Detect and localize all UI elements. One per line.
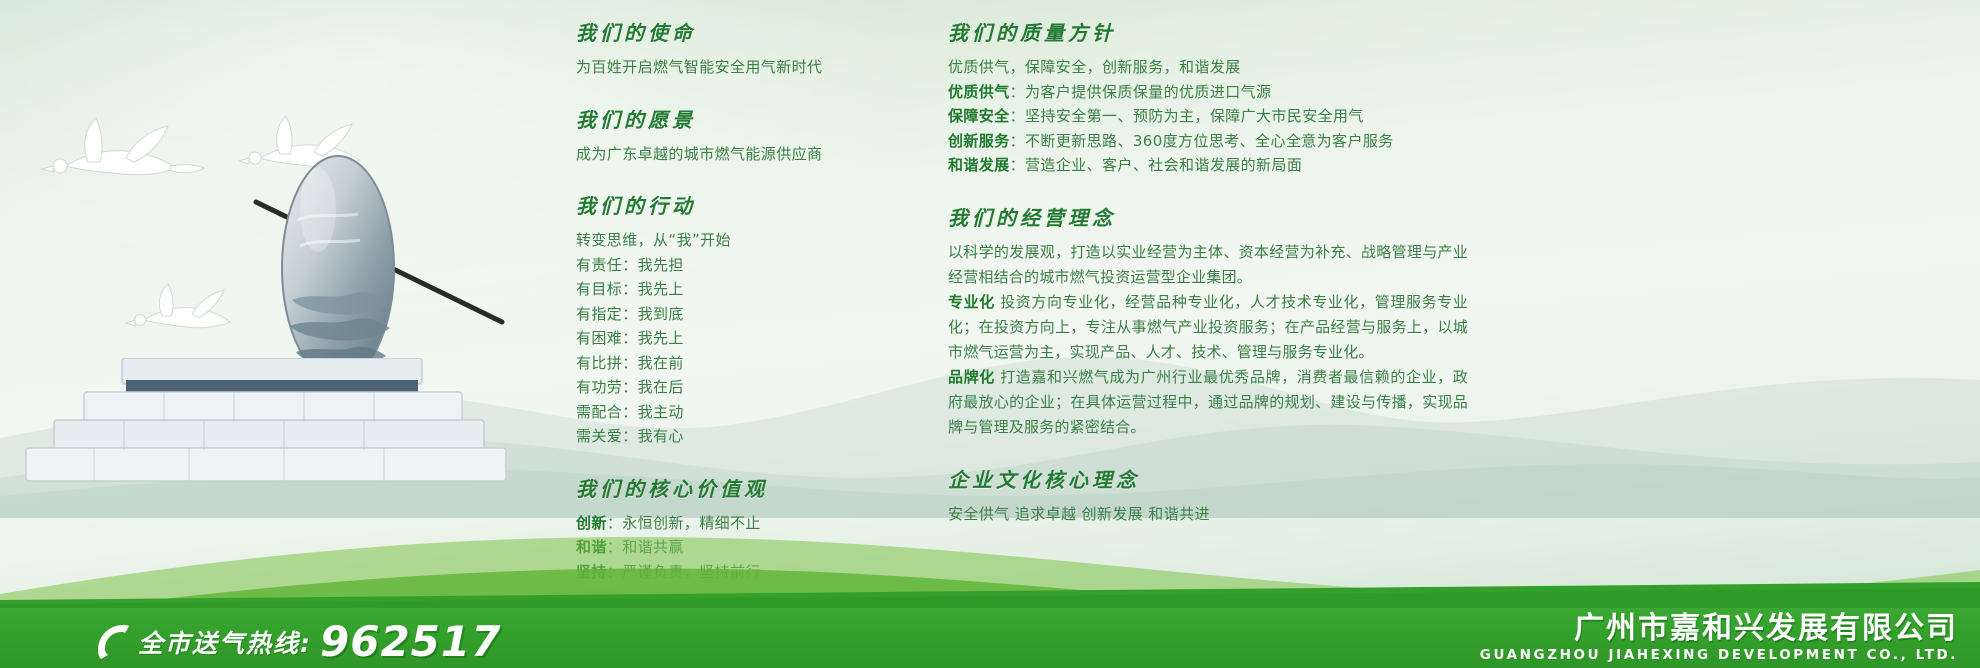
bar-diagonal-accent [0,582,1980,608]
vision-heading: 我们的愿景 [576,105,906,135]
quality-policy-item: 和谐发展：营造企业、客户、社会和谐发展的新局面 [948,153,1468,178]
quality-policy-key: 保障安全 [948,107,1010,125]
management-philosophy-key: 品牌化 [948,368,995,386]
mission-heading: 我们的使命 [576,18,906,48]
quality-policy-sep: ： [1010,156,1025,174]
mission-line: 为百姓开启燃气智能安全用气新时代 [576,55,906,80]
dove-icon [118,276,248,346]
quality-policy-text: 营造企业、客户、社会和谐发展的新局面 [1025,156,1302,174]
management-philosophy-item: 品牌化 打造嘉和兴燃气成为广州行业最优秀品牌，消费者最信赖的企业，政府最放心的企… [948,365,1468,440]
dove-icon [30,108,210,200]
action-line: 有责任：我先担 [576,253,906,278]
quality-policy-text: 坚持安全第一、预防为主，保障广大市民安全用气 [1025,107,1364,125]
action-block: 我们的行动 转变思维，从“我”开始 有责任：我先担 有目标：我先上 有指定：我到… [576,191,906,449]
footer-bar: 全市送气热线: 962517 广州市嘉和兴发展有限公司 GUANGZHOU JI… [0,608,1980,668]
mission-block: 我们的使命 为百姓开启燃气智能安全用气新时代 [576,18,906,80]
management-philosophy-intro: 以科学的发展观，打造以实业经营为主体、资本经营为补充、战略管理与产业经营相结合的… [948,240,1468,290]
hotline-group: 全市送气热线: 962517 [92,622,501,662]
management-philosophy-block: 我们的经营理念 以科学的发展观，打造以实业经营为主体、资本经营为补充、战略管理与… [948,203,1468,440]
hotline-number: 962517 [320,622,501,662]
poster-canvas: 我们的使命 为百姓开启燃气智能安全用气新时代 我们的愿景 成为广东卓越的城市燃气… [0,0,1980,668]
quality-policy-summary: 优质供气，保障安全，创新服务，和谐发展 [948,55,1468,80]
quality-policy-sep: ： [1010,83,1025,101]
action-heading: 我们的行动 [576,191,906,221]
action-line: 有功劳：我在后 [576,375,906,400]
action-line: 有目标：我先上 [576,277,906,302]
hotline-label: 全市送气热线: [138,626,312,662]
quality-policy-key: 优质供气 [948,83,1010,101]
quality-policy-text: 不断更新思路、360度方位思考、全心全意为客户服务 [1025,132,1394,150]
quality-policy-item: 保障安全：坚持安全第一、预防为主，保障广大市民安全用气 [948,104,1468,129]
action-line: 有困难：我先上 [576,326,906,351]
action-line: 转变思维，从“我”开始 [576,228,906,253]
company-name-cn: 广州市嘉和兴发展有限公司 [1480,612,1958,646]
quality-policy-key: 创新服务 [948,132,1010,150]
quality-policy-text: 为客户提供保质保量的优质进口气源 [1025,83,1271,101]
action-line: 需配合：我主动 [576,400,906,425]
quality-policy-sep: ： [1010,132,1025,150]
management-philosophy-heading: 我们的经营理念 [948,203,1468,233]
quality-policy-block: 我们的质量方针 优质供气，保障安全，创新服务，和谐发展 优质供气：为客户提供保质… [948,18,1468,178]
quality-policy-key: 和谐发展 [948,156,1010,174]
company-name-en: GUANGZHOU JIAHEXING DEVELOPMENT CO., LTD… [1480,646,1958,664]
phone-icon [92,622,130,662]
quality-policy-item: 优质供气：为客户提供保质保量的优质进口气源 [948,80,1468,105]
quality-policy-item: 创新服务：不断更新思路、360度方位思考、全心全意为客户服务 [948,129,1468,154]
management-philosophy-key: 专业化 [948,293,995,311]
management-philosophy-item: 专业化 投资方向专业化，经营品种专业化，人才技术专业化，管理服务专业化；在投资方… [948,290,1468,365]
management-philosophy-text: 打造嘉和兴燃气成为广州行业最优秀品牌，消费者最信赖的企业，政府最放心的企业；在具… [948,368,1468,436]
company-brand: 广州市嘉和兴发展有限公司 GUANGZHOU JIAHEXING DEVELOP… [1480,612,1958,664]
quality-policy-heading: 我们的质量方针 [948,18,1468,48]
action-line: 有指定：我到底 [576,302,906,327]
vision-line: 成为广东卓越的城市燃气能源供应商 [576,142,906,167]
action-line: 有比拼：我在前 [576,351,906,376]
vision-block: 我们的愿景 成为广东卓越的城市燃气能源供应商 [576,105,906,167]
management-philosophy-text: 投资方向专业化，经营品种专业化，人才技术专业化，管理服务专业化；在投资方向上，专… [948,293,1468,361]
quality-policy-sep: ： [1010,107,1025,125]
